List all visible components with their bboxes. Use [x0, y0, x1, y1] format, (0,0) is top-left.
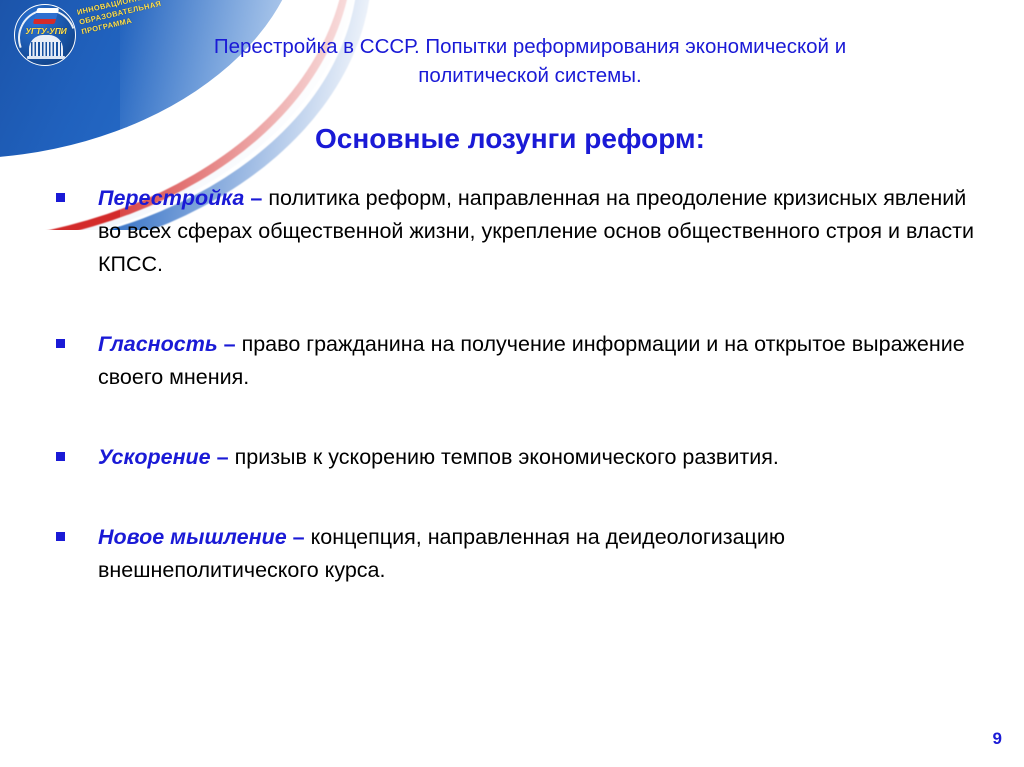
slide-title: Перестройка в СССР. Попытки реформирован…	[150, 32, 910, 90]
bullet-square-icon	[56, 339, 65, 348]
list-item: Гласность – право гражданина на получени…	[56, 328, 986, 394]
logo-flag-icon	[33, 8, 60, 24]
bullet-term: Гласность	[98, 332, 218, 356]
bullet-text: Новое мышление – концепция, направленная…	[98, 521, 986, 587]
bullet-dash: –	[250, 186, 262, 210]
bullet-dash: –	[293, 525, 305, 549]
page-number: 9	[993, 729, 1002, 749]
list-item: Новое мышление – концепция, направленная…	[56, 521, 986, 587]
bullet-term: Новое мышление	[98, 525, 287, 549]
bullet-term: Ускорение	[98, 445, 211, 469]
bullet-dash: –	[217, 445, 229, 469]
logo-base-icon	[27, 56, 65, 59]
logo-columns-icon	[31, 42, 61, 56]
bullet-square-icon	[56, 452, 65, 461]
bullet-square-icon	[56, 193, 65, 202]
ugtu-upi-logo: УГТУ-УПИ	[14, 4, 78, 68]
list-item: Ускорение – призыв к ускорению темпов эк…	[56, 441, 986, 474]
bullet-list: Перестройка – политика реформ, направлен…	[56, 182, 986, 587]
slide-canvas: УГТУ-УПИ ИННОВАЦИОННАЯ ОБРАЗОВАТЕЛЬНАЯ П…	[0, 0, 1024, 767]
bullet-term: Перестройка	[98, 186, 244, 210]
bullet-text: Перестройка – политика реформ, направлен…	[98, 182, 986, 281]
bullet-square-icon	[56, 532, 65, 541]
bullet-definition: призыв к ускорению темпов экономического…	[235, 445, 779, 469]
logo-acronym: УГТУ-УПИ	[16, 26, 76, 36]
bullet-text: Гласность – право гражданина на получени…	[98, 328, 986, 394]
list-item: Перестройка – политика реформ, направлен…	[56, 182, 986, 281]
slide-subtitle: Основные лозунги реформ:	[60, 122, 960, 156]
bullet-text: Ускорение – призыв к ускорению темпов эк…	[98, 441, 986, 474]
bullet-dash: –	[224, 332, 236, 356]
